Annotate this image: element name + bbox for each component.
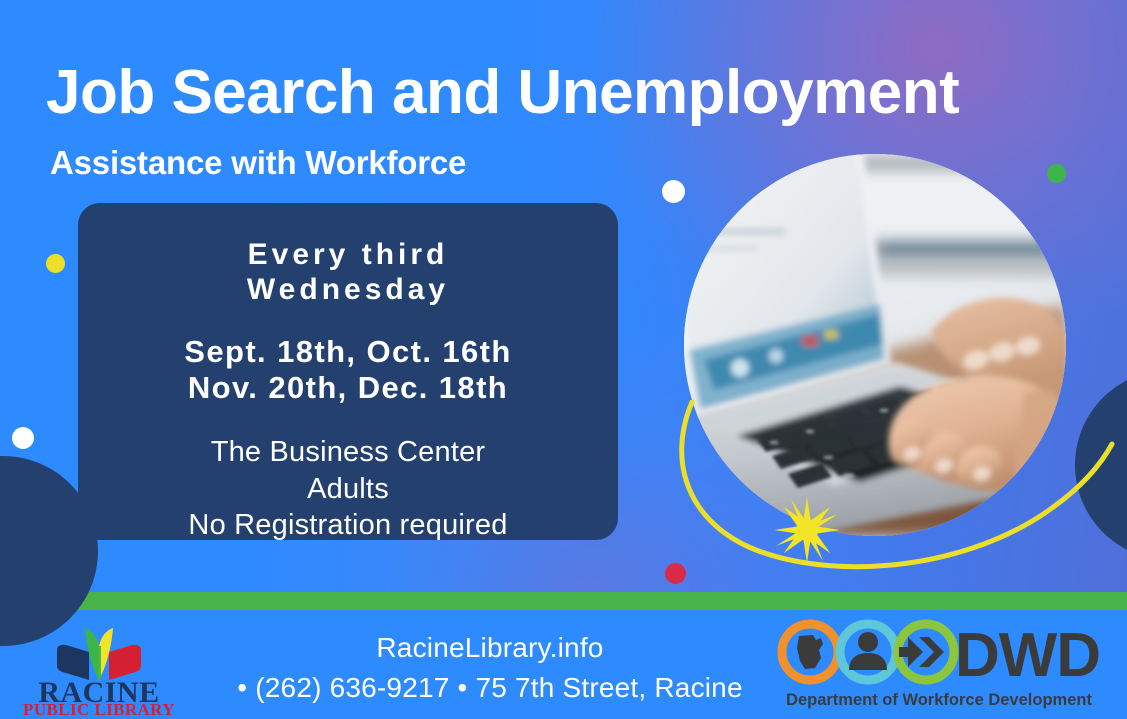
schedule-line-2: Wednesday [102,272,594,307]
footer-website[interactable]: RacineLibrary.info [210,628,770,668]
card-dates-text: Sept. 18th, Oct. 16th Nov. 20th, Dec. 18… [102,334,594,407]
card-details-text: The Business Center Adults No Registrati… [102,434,594,543]
book-right-cover [109,645,141,680]
green-divider-bar [0,592,1127,610]
card-schedule-text: Every third Wednesday [102,237,594,308]
white-dot-decoration-left [12,427,34,449]
dates-line-1: Sept. 18th, Oct. 16th [102,334,594,370]
red-dot-decoration [665,563,686,584]
laptop-typing-photo [684,154,1066,536]
dwd-tagline: Department of Workforce Development [786,691,1092,709]
book-spine [97,646,101,680]
book-left-cover [57,645,89,680]
yellow-dot-decoration [46,254,65,273]
footer-contact-info: RacineLibrary.info • (262) 636-9217 • 75… [210,628,770,708]
dwd-wordmark: DWD [955,621,1100,690]
page-title: Job Search and Unemployment [46,62,1076,124]
schedule-line-1: Every third [102,237,594,272]
detail-audience: Adults [102,471,594,507]
dwd-logo[interactable]: DWD Department of Workforce Development [769,614,1109,714]
white-dot-decoration-middle [662,180,685,203]
wisconsin-state-icon [797,635,823,669]
event-details-card: Every third Wednesday Sept. 18th, Oct. 1… [78,203,618,540]
flyer-poster: Job Search and Unemployment Assistance w… [0,0,1127,719]
person-head-icon [858,632,878,652]
racine-logo-tagline: PUBLIC LIBRARY [23,700,175,716]
dates-line-2: Nov. 20th, Dec. 18th [102,370,594,406]
detail-registration: No Registration required [102,507,594,543]
racine-public-library-logo[interactable]: RACINE PUBLIC LIBRARY [13,612,185,716]
footer-phone-address: • (262) 636-9217 • 75 7th Street, Racine [210,668,770,708]
detail-location: The Business Center [102,434,594,470]
person-body-icon [849,653,887,670]
starburst-decoration [774,497,840,563]
